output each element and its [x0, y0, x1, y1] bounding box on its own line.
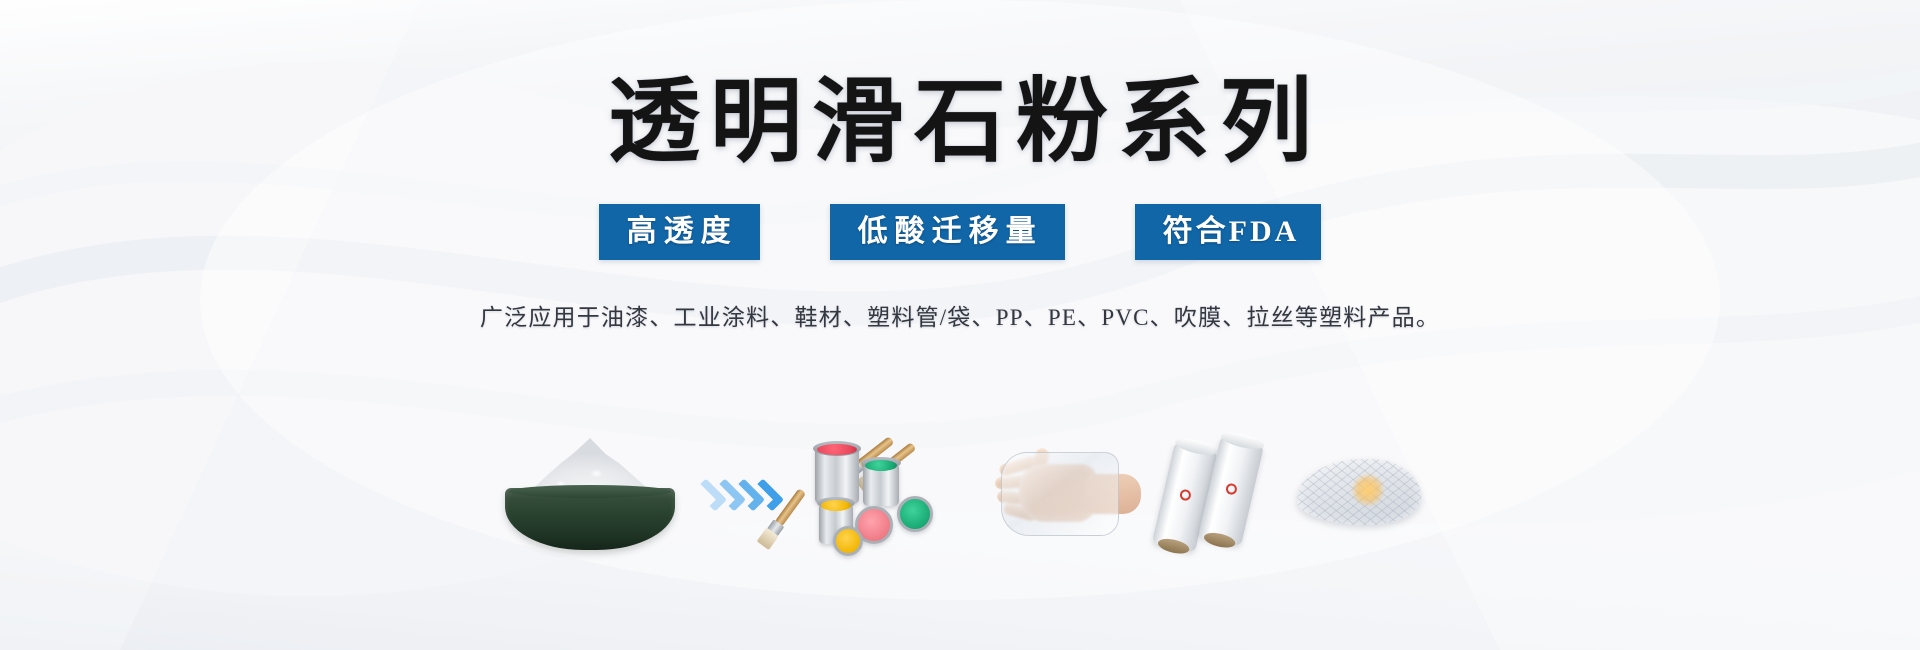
plastic-glove-film-icon [1001, 452, 1119, 536]
green-bowl-icon [505, 488, 675, 550]
product-banner: 透明滑石粉系列 高透度 低酸迁移量 符合FDA 广泛应用于油漆、工业涂料、鞋材、… [0, 0, 1920, 650]
paint-can-red [815, 448, 859, 504]
product-paint-cans [793, 440, 993, 550]
product-talc-powder-bowl [495, 440, 685, 550]
feature-badge-high-transparency[interactable]: 高透度 [599, 204, 760, 260]
page-title: 透明滑石粉系列 [598, 74, 1322, 172]
feature-badge-fda-compliant[interactable]: 符合FDA [1135, 204, 1322, 260]
paint-can-green [863, 464, 899, 506]
paint-lid-green [897, 496, 933, 532]
sole-highlight-icon [1351, 473, 1385, 507]
roll-brand-dot-icon-1 [1179, 488, 1192, 501]
application-description: 广泛应用于油漆、工业涂料、鞋材、塑料管/袋、PP、PE、PVC、吹膜、拉丝等塑料… [480, 298, 1440, 332]
product-film-rolls [1143, 440, 1293, 550]
feature-badge-list: 高透度 低酸迁移量 符合FDA [599, 204, 1322, 260]
product-shoe-sole [1293, 440, 1425, 550]
roll-brand-dot-icon-2 [1225, 482, 1238, 495]
product-application-strip [0, 430, 1920, 560]
feature-badge-low-acid-migration[interactable]: 低酸迁移量 [830, 204, 1065, 260]
paint-lid-yellow [833, 526, 863, 556]
product-gloved-hand [993, 440, 1143, 550]
